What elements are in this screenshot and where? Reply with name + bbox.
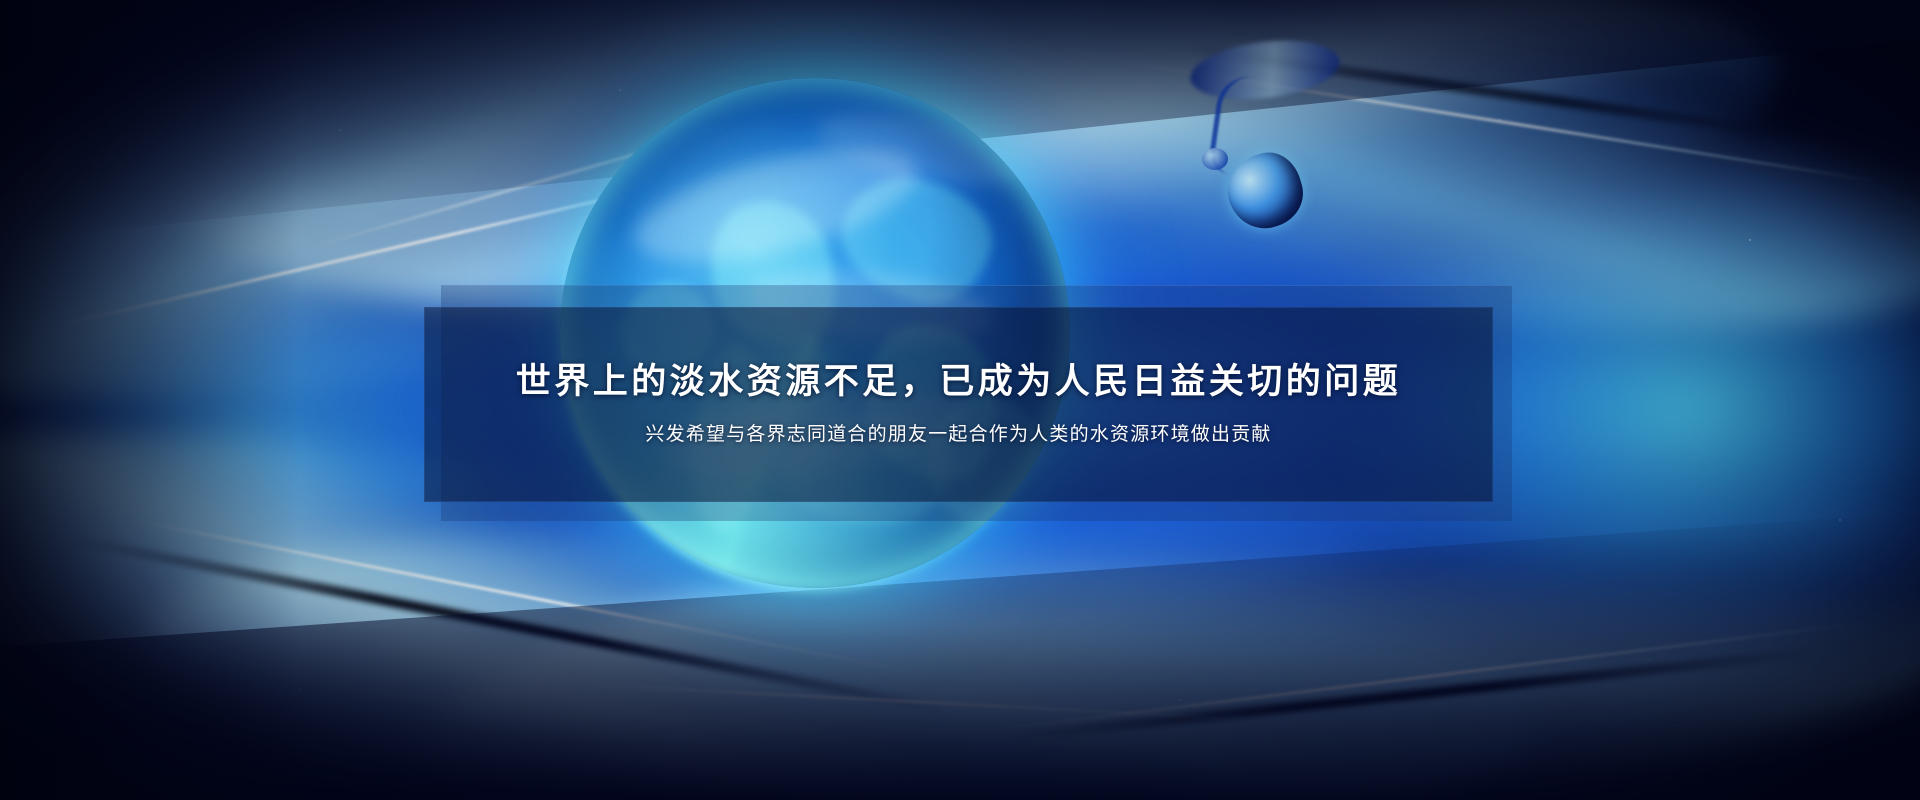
dark-edge-left — [0, 0, 300, 800]
droplet-small — [1202, 148, 1228, 170]
banner-headline: 世界上的淡水资源不足，已成为人民日益关切的问题 — [516, 362, 1402, 402]
water-droplet — [1150, 60, 1370, 280]
banner-subheadline: 兴发希望与各界志同道合的朋友一起合作为人类的水资源环境做出贡献 — [645, 424, 1271, 447]
caption-text-block: 世界上的淡水资源不足，已成为人民日益关切的问题 兴发希望与各界志同道合的朋友一起… — [424, 307, 1493, 502]
hero-banner: 世界上的淡水资源不足，已成为人民日益关切的问题 兴发希望与各界志同道合的朋友一起… — [0, 0, 1920, 800]
